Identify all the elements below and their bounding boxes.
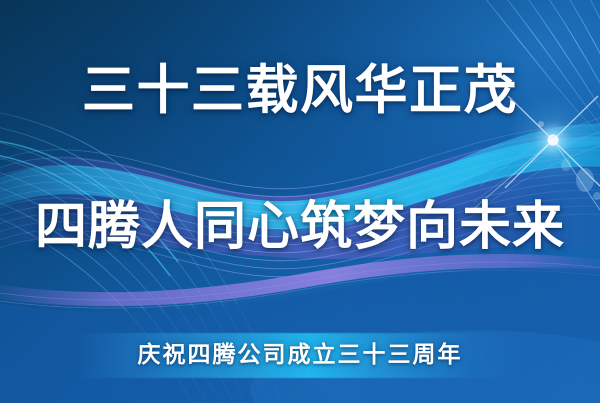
headline-line-2: 四腾人同心筑梦向未来 xyxy=(0,196,600,258)
poster-text-layer: 三十三载风华正茂 四腾人同心筑梦向未来 庆祝四腾公司成立三十三周年 xyxy=(0,0,600,403)
poster-subtitle: 庆祝四腾公司成立三十三周年 xyxy=(0,336,600,374)
anniversary-poster: 三十三载风华正茂 四腾人同心筑梦向未来 庆祝四腾公司成立三十三周年 xyxy=(0,0,600,403)
headline-line-1: 三十三载风华正茂 xyxy=(0,59,600,123)
